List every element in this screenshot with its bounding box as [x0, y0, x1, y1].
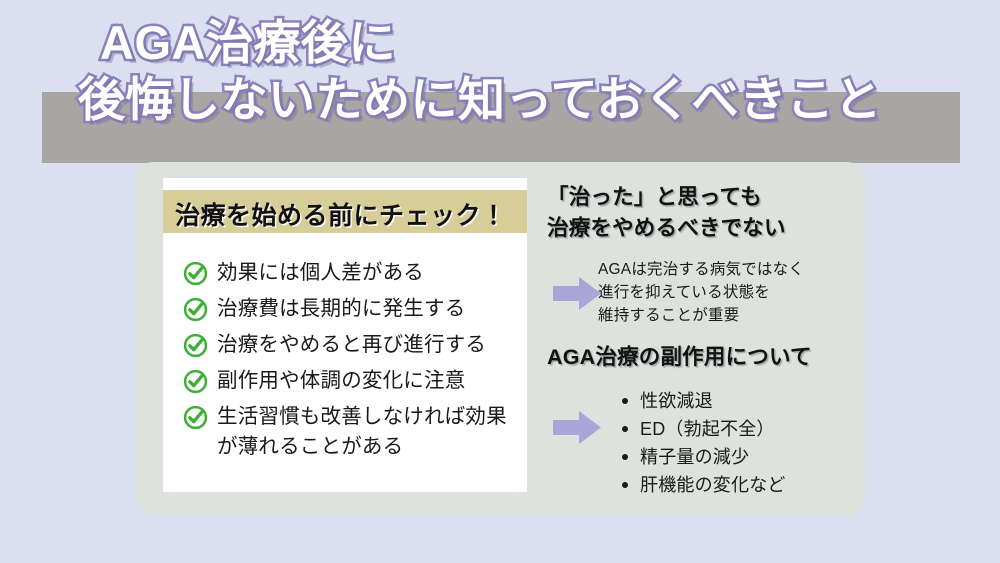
- arrow-right-icon: [553, 411, 601, 444]
- list-item: 副作用や体調の変化に注意: [183, 366, 523, 395]
- check-circle-icon: [183, 333, 208, 358]
- side-effect-label: 精子量の減少: [640, 447, 749, 467]
- list-item: 治療をやめると再び進行する: [183, 330, 523, 359]
- checklist-item-label: 生活習慣も改善しなければ効果が薄れることがある: [217, 402, 523, 460]
- checklist-item-label: 治療をやめると再び進行する: [217, 330, 486, 359]
- side-effect-label: 性欲減退: [640, 391, 713, 411]
- arrow-right-icon: [553, 277, 601, 310]
- right-section-1-body: AGAは完治する病気ではなく 進行を抑えている状態を 維持することが重要: [598, 259, 878, 328]
- checklist-heading: 治療を始める前にチェック！: [175, 196, 525, 232]
- list-item: 生活習慣も改善しなければ効果が薄れることがある: [183, 402, 523, 460]
- checklist-item-label: 効果には個人差がある: [217, 258, 424, 287]
- checklist-item-label: 治療費は長期的に発生する: [217, 294, 465, 323]
- right-section-1-heading-line1: 「治った」と思っても: [547, 182, 786, 213]
- right-section-1-heading-line2: 治療をやめるべきでない: [547, 213, 786, 244]
- check-circle-icon: [183, 369, 208, 394]
- side-effect-label: ED（勃起不全）: [640, 419, 775, 439]
- bullet-dot-icon: [622, 398, 628, 404]
- side-effect-label: 肝機能の変化など: [640, 475, 786, 495]
- right-section-1-body-line2: 進行を抑えている状態を: [598, 282, 878, 305]
- checklist-item-label: 副作用や体調の変化に注意: [217, 366, 465, 395]
- right-section-1-body-line1: AGAは完治する病気ではなく: [598, 259, 878, 282]
- title-line-1: AGA治療後に: [0, 14, 1000, 71]
- page-title: AGA治療後に 後悔しないために知っておくべきこと: [0, 0, 1000, 129]
- check-circle-icon: [183, 261, 208, 286]
- checklist-items: 効果には個人差がある 治療費は長期的に発生する 治療をやめると再び進行する: [183, 258, 523, 468]
- bullet-dot-icon: [622, 426, 628, 432]
- list-item: 効果には個人差がある: [183, 258, 523, 287]
- right-section-1-body-line3: 維持することが重要: [598, 305, 878, 328]
- list-item: 肝機能の変化など: [620, 472, 880, 500]
- list-item: 治療費は長期的に発生する: [183, 294, 523, 323]
- list-item: ED（勃起不全）: [620, 416, 880, 444]
- list-item: 精子量の減少: [620, 444, 880, 472]
- check-circle-icon: [183, 297, 208, 322]
- slide-canvas: AGA治療後に 後悔しないために知っておくべきこと 治療を始める前にチェック！ …: [0, 0, 1000, 563]
- check-circle-icon: [183, 405, 208, 430]
- list-item: 性欲減退: [620, 388, 880, 416]
- bullet-dot-icon: [622, 454, 628, 460]
- bullet-dot-icon: [622, 482, 628, 488]
- right-section-1-heading: 「治った」と思っても 治療をやめるべきでない: [547, 182, 786, 243]
- side-effect-list: 性欲減退 ED（勃起不全） 精子量の減少 肝機能の変化など: [620, 388, 880, 500]
- right-section-2-heading: AGA治療の副作用について: [547, 342, 812, 373]
- title-line-2: 後悔しないために知っておくべきこと: [0, 71, 1000, 128]
